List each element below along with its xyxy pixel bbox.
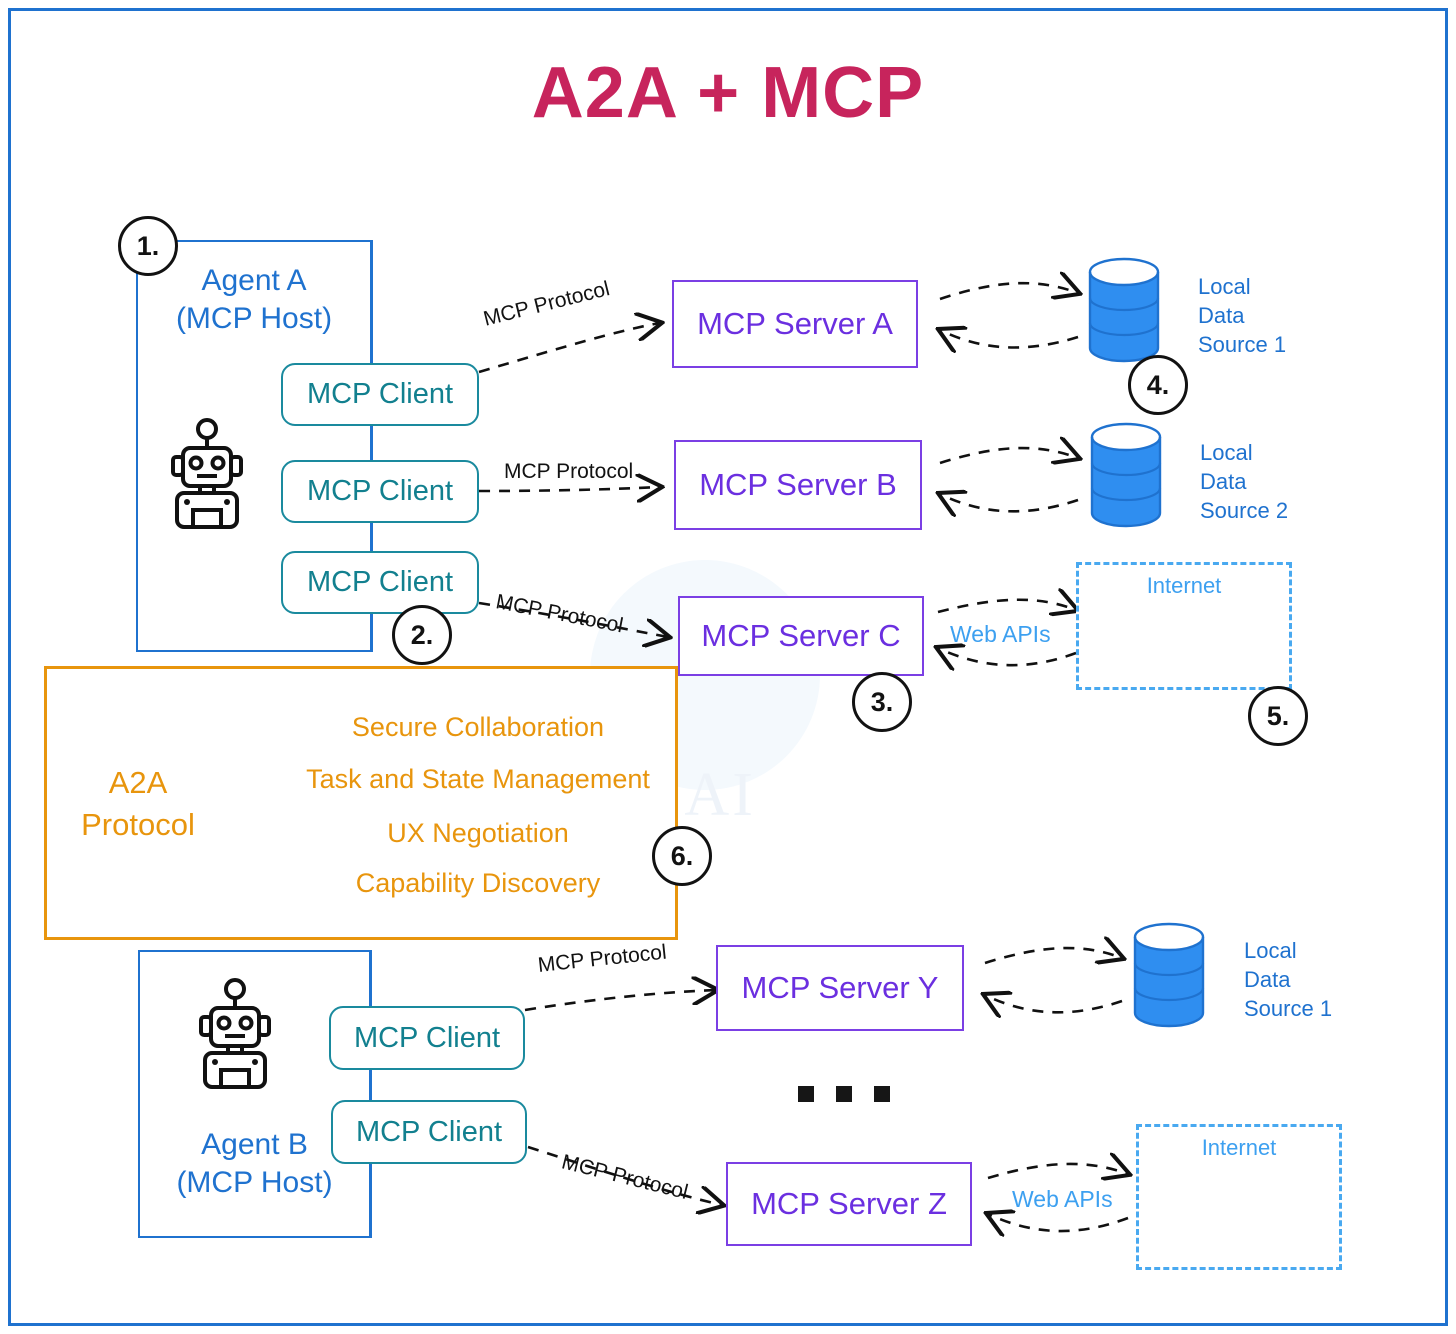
page-title: A2A + MCP	[0, 52, 1456, 134]
mcp-server-b[interactable]: MCP Server B	[674, 440, 922, 530]
mcp-protocol-label-b2: MCP Protocol	[559, 1150, 690, 1205]
mcp-server-c[interactable]: MCP Server C	[678, 596, 924, 676]
mcp-server-label: MCP Server Z	[751, 1186, 947, 1222]
internet-label: Internet	[1079, 573, 1289, 599]
a2a-feature-1: Task and State Management	[306, 764, 650, 795]
agent-a-label: Agent A (MCP Host)	[136, 262, 372, 338]
mcp-client-b1[interactable]: MCP Client	[329, 1006, 525, 1070]
database-icon	[1090, 259, 1158, 361]
dot	[798, 1086, 814, 1102]
agent-b-client-spine	[370, 950, 372, 1238]
local-data-source-2-label: Local Data Source 2	[1200, 438, 1288, 525]
mcp-client-label: MCP Client	[307, 566, 453, 599]
mcp-protocol-label-b1: MCP Protocol	[537, 941, 668, 978]
ellipsis-separator	[798, 1086, 890, 1102]
database-icon	[1135, 924, 1203, 1026]
mcp-protocol-label-a2: MCP Protocol	[504, 460, 633, 484]
dot	[874, 1086, 890, 1102]
diagram-canvas: Swirl AI A2A + MCP	[0, 0, 1456, 1334]
mcp-server-label: MCP Server B	[699, 467, 897, 503]
local-data-source-1-label-bottom: Local Data Source 1	[1244, 936, 1332, 1023]
callout-2: 2.	[392, 605, 452, 665]
dot	[836, 1086, 852, 1102]
mcp-client-a3[interactable]: MCP Client	[281, 551, 479, 614]
callout-5: 5.	[1248, 686, 1308, 746]
mcp-client-label: MCP Client	[307, 378, 453, 411]
mcp-protocol-label-a3: MCP Protocol	[494, 590, 625, 638]
mcp-client-a1[interactable]: MCP Client	[281, 363, 479, 426]
a2a-protocol-title: A2A Protocol	[58, 762, 218, 846]
local-data-source-1-label: Local Data Source 1	[1198, 272, 1286, 359]
callout-1: 1.	[118, 216, 178, 276]
mcp-server-y[interactable]: MCP Server Y	[716, 945, 964, 1031]
mcp-server-label: MCP Server A	[697, 306, 893, 342]
callout-4: 4.	[1128, 355, 1188, 415]
mcp-client-label: MCP Client	[307, 475, 453, 508]
callout-6: 6.	[652, 826, 712, 886]
a2a-feature-0: Secure Collaboration	[352, 712, 604, 743]
mcp-server-a[interactable]: MCP Server A	[672, 280, 918, 368]
mcp-protocol-label-a1: MCP Protocol	[481, 277, 612, 332]
database-icon	[1092, 424, 1160, 526]
mcp-server-z[interactable]: MCP Server Z	[726, 1162, 972, 1246]
mcp-server-label: MCP Server Y	[742, 970, 939, 1006]
web-apis-label-top: Web APIs	[950, 621, 1051, 648]
mcp-client-label: MCP Client	[354, 1022, 500, 1055]
web-apis-label-bottom: Web APIs	[1012, 1186, 1113, 1213]
a2a-feature-2: UX Negotiation	[387, 818, 569, 849]
internet-box-top: Internet	[1076, 562, 1292, 690]
mcp-client-a2[interactable]: MCP Client	[281, 460, 479, 523]
internet-box-bottom: Internet	[1136, 1124, 1342, 1270]
a2a-feature-3: Capability Discovery	[356, 868, 601, 899]
callout-3: 3.	[852, 672, 912, 732]
mcp-client-label: MCP Client	[356, 1116, 502, 1149]
internet-label: Internet	[1139, 1135, 1339, 1161]
mcp-server-label: MCP Server C	[701, 618, 900, 654]
mcp-client-b2[interactable]: MCP Client	[331, 1100, 527, 1164]
